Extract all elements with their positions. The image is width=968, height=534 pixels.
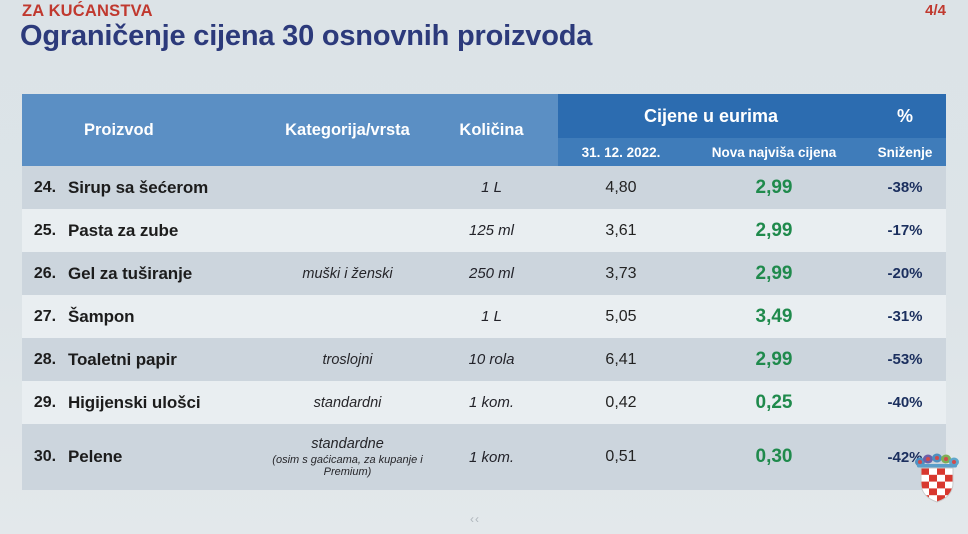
cell-new-price: 0,30 (684, 424, 864, 490)
cell-quantity: 250 ml (425, 252, 558, 295)
table-row[interactable]: 29.Higijenski ulošcistandardni1 kom.0,42… (22, 381, 946, 424)
cell-quantity: 1 L (425, 295, 558, 338)
cell-old-price: 5,05 (558, 295, 684, 338)
category-main: standardne (311, 436, 384, 452)
cell-quantity: 125 ml (425, 209, 558, 252)
cell-old-price: 3,61 (558, 209, 684, 252)
cell-row-number: 30. (22, 424, 68, 490)
cell-old-price: 6,41 (558, 338, 684, 381)
price-table-container: Proizvod Kategorija/vrsta Količina Cijen… (22, 94, 946, 490)
slide-root: ZA KUĆANSTVA 4/4 Ograničenje cijena 30 o… (0, 0, 968, 534)
cell-category: troslojni (270, 338, 425, 381)
cell-row-number: 27. (22, 295, 68, 338)
cell-quantity: 1 L (425, 166, 558, 209)
cell-product-name: Higijenski ulošci (68, 381, 270, 424)
cell-product-name: Gel za tuširanje (68, 252, 270, 295)
page-title: Ograničenje cijena 30 osnovnih proizvoda (20, 20, 592, 53)
cell-discount: -20% (864, 252, 946, 295)
th-old-price[interactable]: 31. 12. 2022. (558, 138, 684, 166)
th-quantity[interactable]: Količina (425, 94, 558, 166)
cell-row-number: 26. (22, 252, 68, 295)
th-discount[interactable]: Sniženje (864, 138, 946, 166)
table-row[interactable]: 26.Gel za tuširanjemuški i ženski250 ml3… (22, 252, 946, 295)
table-head: Proizvod Kategorija/vrsta Količina Cijen… (22, 94, 946, 166)
cell-new-price: 2,99 (684, 252, 864, 295)
price-table: Proizvod Kategorija/vrsta Količina Cijen… (22, 94, 946, 490)
cell-category (270, 295, 425, 338)
cell-product-name: Šampon (68, 295, 270, 338)
cell-category: standardne(osim s gaćicama, za kupanje i… (270, 424, 425, 490)
cell-category: standardni (270, 381, 425, 424)
cell-quantity: 10 rola (425, 338, 558, 381)
category-main: muški i ženski (302, 266, 392, 282)
cell-new-price: 0,25 (684, 381, 864, 424)
cell-row-number: 24. (22, 166, 68, 209)
cell-new-price: 2,99 (684, 338, 864, 381)
cell-discount: -31% (864, 295, 946, 338)
slide-kicker: ZA KUĆANSTVA (22, 2, 153, 21)
table-row[interactable]: 28.Toaletni papirtroslojni10 rola6,412,9… (22, 338, 946, 381)
category-note: (osim s gaćicama, za kupanje i Premium) (270, 454, 425, 479)
cell-new-price: 2,99 (684, 209, 864, 252)
table-row[interactable]: 24.Sirup sa šećerom1 L4,802,99-38% (22, 166, 946, 209)
cell-category (270, 166, 425, 209)
cell-category (270, 209, 425, 252)
cell-category: muški i ženski (270, 252, 425, 295)
th-product[interactable]: Proizvod (68, 94, 270, 166)
cell-discount: -17% (864, 209, 946, 252)
cell-row-number: 28. (22, 338, 68, 381)
cell-discount: -40% (864, 381, 946, 424)
table-row[interactable]: 27.Šampon1 L5,053,49-31% (22, 295, 946, 338)
cell-product-name: Toaletni papir (68, 338, 270, 381)
cell-quantity: 1 kom. (425, 424, 558, 490)
cell-old-price: 0,42 (558, 381, 684, 424)
table-header-row-primary: Proizvod Kategorija/vrsta Količina Cijen… (22, 94, 946, 138)
cell-discount: -53% (864, 338, 946, 381)
th-prices-group: Cijene u eurima (558, 94, 864, 138)
cell-product-name: Pasta za zube (68, 209, 270, 252)
croatian-coat-of-arms-icon (915, 452, 959, 504)
th-number (22, 94, 68, 166)
th-category[interactable]: Kategorija/vrsta (270, 94, 425, 166)
page-indicator: 4/4 (925, 2, 946, 19)
cell-row-number: 29. (22, 381, 68, 424)
category-main: standardni (314, 395, 382, 411)
th-new-price[interactable]: Nova najviša cijena (684, 138, 864, 166)
cell-product-name: Sirup sa šećerom (68, 166, 270, 209)
cell-product-name: Pelene (68, 424, 270, 490)
cell-new-price: 2,99 (684, 166, 864, 209)
category-main: troslojni (323, 352, 373, 368)
th-percent-group: % (864, 94, 946, 138)
cell-old-price: 0,51 (558, 424, 684, 490)
video-artifact: ‹‹ (470, 512, 480, 526)
cell-row-number: 25. (22, 209, 68, 252)
table-body: 24.Sirup sa šećerom1 L4,802,99-38%25.Pas… (22, 166, 946, 490)
cell-old-price: 4,80 (558, 166, 684, 209)
cell-old-price: 3,73 (558, 252, 684, 295)
cell-new-price: 3,49 (684, 295, 864, 338)
cell-quantity: 1 kom. (425, 381, 558, 424)
cell-discount: -38% (864, 166, 946, 209)
table-row[interactable]: 30.Pelenestandardne(osim s gaćicama, za … (22, 424, 946, 490)
table-row[interactable]: 25.Pasta za zube125 ml3,612,99-17% (22, 209, 946, 252)
